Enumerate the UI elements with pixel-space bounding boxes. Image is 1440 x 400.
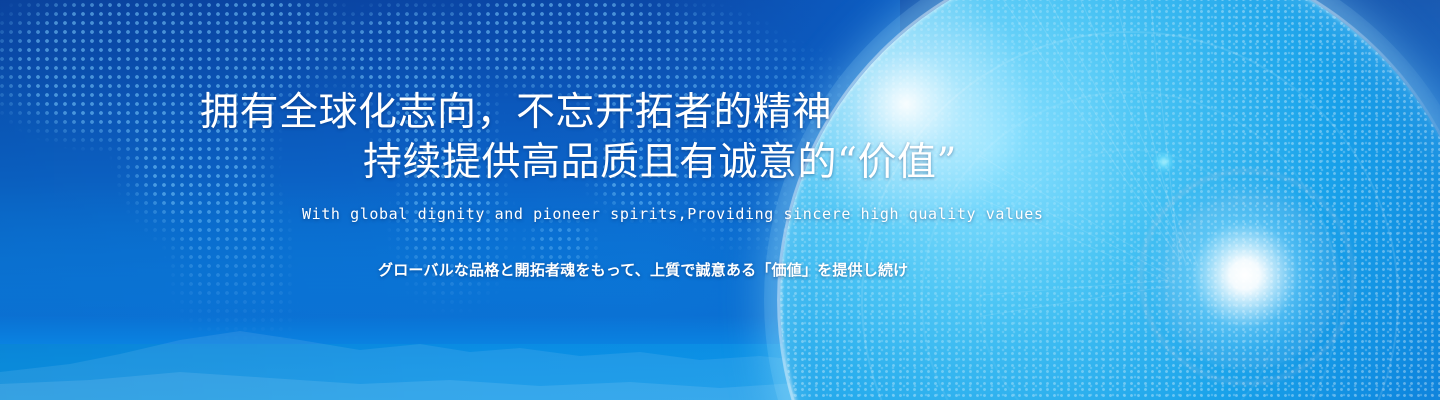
dotted-world-map-icon: [0, 0, 900, 344]
subtitle-english: With global dignity and pioneer spirits,…: [302, 205, 1044, 223]
subtitle-japanese: グローバルな品格と開拓者魂をもって、上質で誠意ある「価値」を提供し続け: [378, 259, 908, 280]
hero-banner: 拥有全球化志向，不忘开拓者的精神 持续提供高品质且有诚意的“价值” With g…: [0, 0, 1440, 400]
planet-texture: [780, 0, 1440, 400]
planet-rim-highlight: [777, 0, 1440, 400]
mountain-silhouette-icon: [0, 310, 1440, 400]
planet-graphic: [780, 0, 1440, 400]
right-sheen-overlay: [0, 0, 1440, 400]
headline: 拥有全球化志向，不忘开拓者的精神 持续提供高品质且有诚意的“价值”: [200, 88, 957, 188]
planet-body-icon: [780, 0, 1440, 400]
planet-arc-rings-icon: [780, 0, 1440, 400]
light-rays-icon: [980, 0, 1440, 400]
headline-line-1: 拥有全球化志向，不忘开拓者的精神: [200, 90, 832, 135]
headline-line-2: 持续提供高品质且有诚意的“价值”: [200, 138, 957, 188]
lens-flare-orb-icon: [1153, 151, 1175, 173]
planet-atmosphere-glow: [764, 0, 1440, 400]
world-map-fade-overlay: [0, 0, 900, 344]
